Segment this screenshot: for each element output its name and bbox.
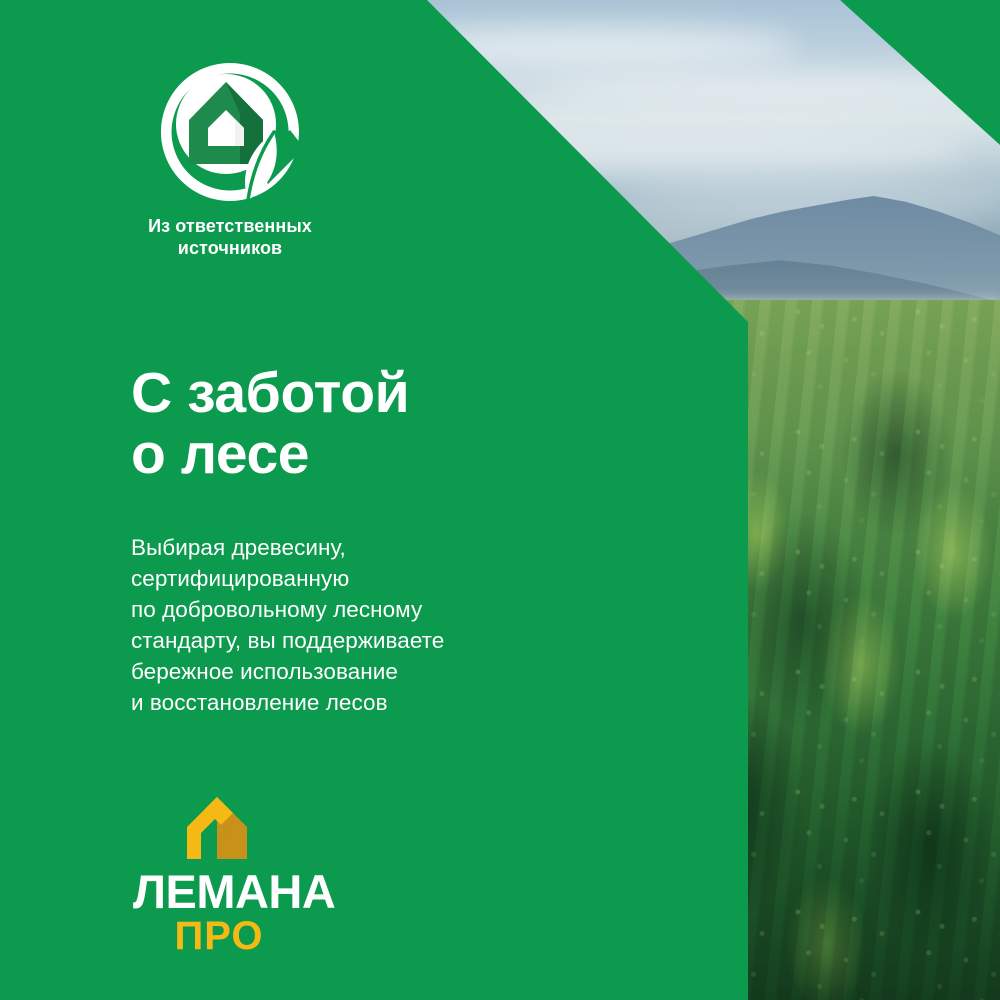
lemana-pro-brand-lockup: ЛЕМАНА ПРО bbox=[133, 795, 363, 957]
responsible-sources-badge: Из ответственных источников bbox=[120, 58, 420, 260]
paragraph-line-1: Выбирая древесину, bbox=[131, 532, 444, 563]
paragraph-line-2: сертифицированную bbox=[131, 563, 444, 594]
headline-line-1: С заботой bbox=[131, 363, 409, 423]
headline-line-2: о лесе bbox=[131, 424, 409, 484]
responsible-sources-house-leaf-icon bbox=[156, 58, 304, 206]
brand-name: ЛЕМАНА bbox=[133, 869, 363, 915]
poster-canvas: Из ответственных источников С заботой о … bbox=[0, 0, 1000, 1000]
badge-caption-line-2: источников bbox=[120, 238, 340, 260]
poster-content: Из ответственных источников С заботой о … bbox=[0, 0, 748, 1000]
lemana-pro-house-icon bbox=[181, 795, 253, 861]
badge-caption: Из ответственных источников bbox=[120, 216, 340, 260]
brand-sub: ПРО bbox=[133, 916, 305, 957]
headline: С заботой о лесе bbox=[131, 363, 409, 484]
body-paragraph: Выбирая древесину, сертифицированную по … bbox=[131, 532, 444, 718]
paragraph-line-5: бережное использование bbox=[131, 656, 444, 687]
paragraph-line-6: и восстановление лесов bbox=[131, 687, 444, 718]
paragraph-line-3: по добровольному лесному bbox=[131, 594, 444, 625]
paragraph-line-4: стандарту, вы поддерживаете bbox=[131, 625, 444, 656]
badge-caption-line-1: Из ответственных bbox=[120, 216, 340, 238]
